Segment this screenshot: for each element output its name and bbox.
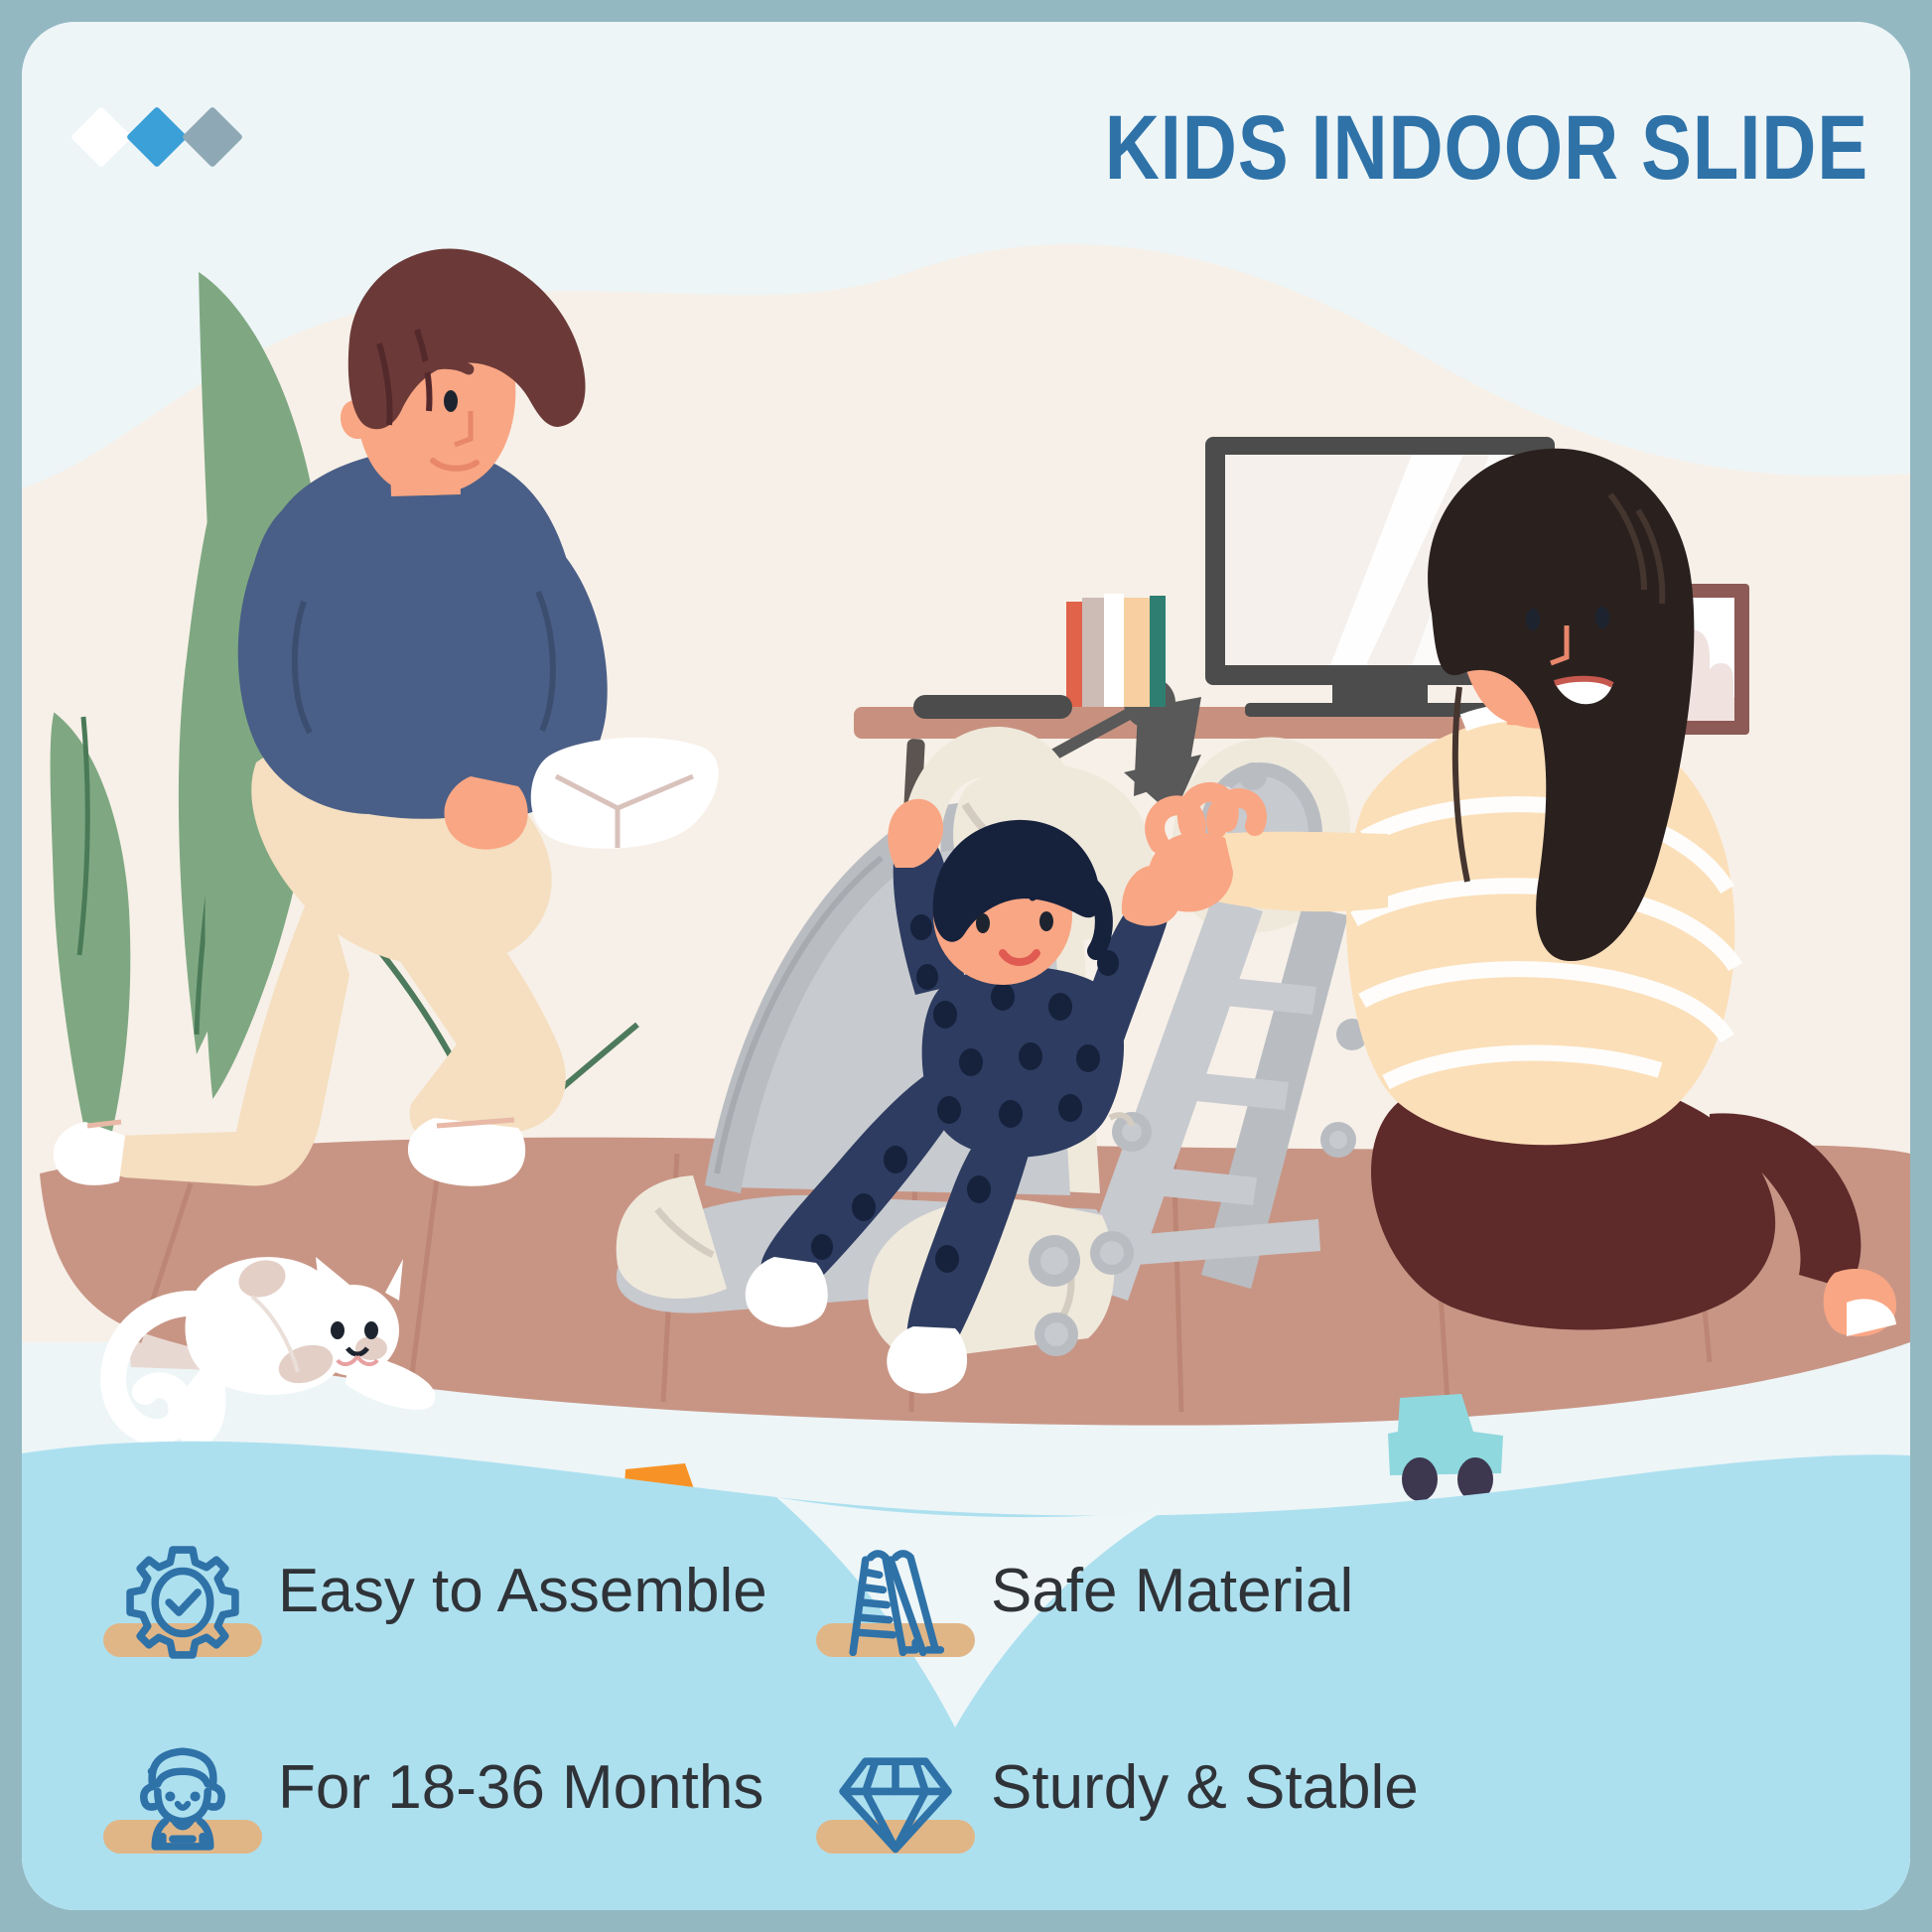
feature-row-top: Easy to Assemble <box>22 1501 1910 1680</box>
feature-label: Sturdy & Stable <box>991 1752 1419 1823</box>
diamond-gem-icon-wrap <box>830 1713 961 1862</box>
toddler-icon <box>120 1736 245 1862</box>
feature-list: Easy to Assemble <box>22 1501 1910 1910</box>
slide-ladder-icon <box>833 1540 958 1665</box>
logo-diamond-gray <box>182 106 243 168</box>
gear-check-icon-wrap <box>117 1516 248 1665</box>
feature-item-easy-to-assemble[interactable]: Easy to Assemble <box>117 1501 812 1680</box>
poster-frame: KIDS INDOOR SLIDE E <box>0 0 1932 1932</box>
desk-object <box>913 695 1072 719</box>
feature-label: For 18-36 Months <box>278 1752 763 1823</box>
feature-label: Safe Material <box>991 1556 1353 1626</box>
slide-ladder-icon-wrap <box>830 1516 961 1665</box>
logo-diamond-white <box>70 106 132 168</box>
feature-row-bottom: For 18-36 Months <box>22 1698 1910 1876</box>
feature-item-safe-material[interactable]: Safe Material <box>830 1501 1525 1680</box>
gear-check-icon <box>120 1540 245 1665</box>
feature-label: Easy to Assemble <box>278 1556 767 1626</box>
page-title: KIDS INDOOR SLIDE <box>748 93 1868 203</box>
logo-diamond-blue <box>126 106 188 168</box>
books-row <box>1066 594 1166 707</box>
toddler-icon-wrap <box>117 1713 248 1862</box>
feature-item-sturdy-and-stable[interactable]: Sturdy & Stable <box>830 1698 1525 1876</box>
poster-canvas: KIDS INDOOR SLIDE E <box>22 22 1910 1910</box>
brand-diamonds-logo <box>69 99 298 171</box>
diamond-gem-icon <box>833 1736 958 1862</box>
feature-item-for-18-36-months[interactable]: For 18-36 Months <box>117 1698 812 1876</box>
